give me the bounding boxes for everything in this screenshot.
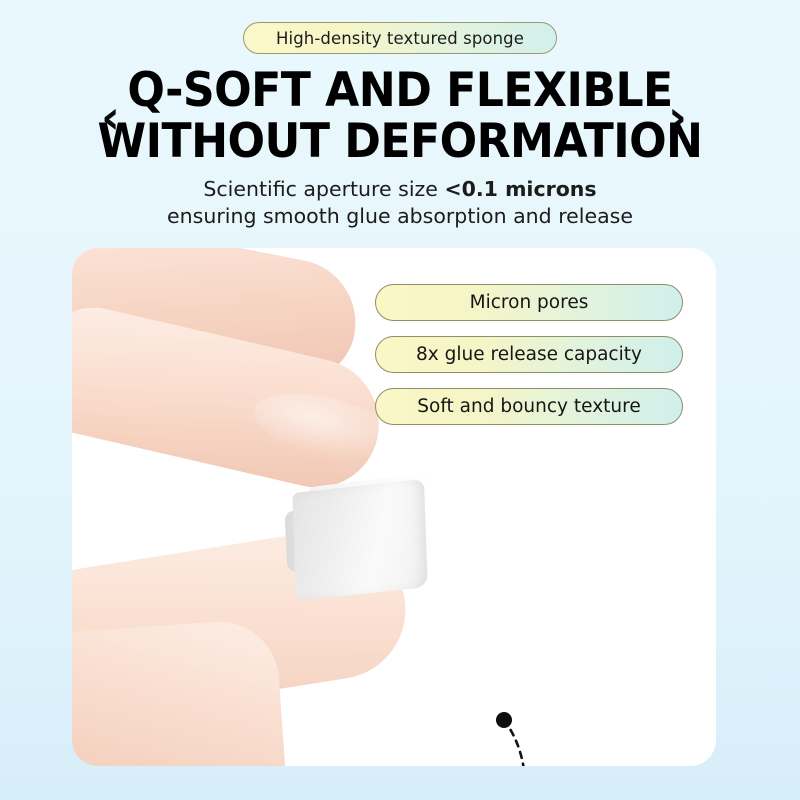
palm: [72, 618, 289, 766]
badge-high-density-sponge: High-density textured sponge: [243, 22, 557, 54]
subtitle: Scientific aperture size <0.1 microns en…: [0, 176, 800, 231]
feature-pill-label: Soft and bouncy texture: [417, 396, 640, 417]
arc-endpoint-top-dot: [496, 712, 512, 728]
headline-line-2: WITHOUT DEFORMATION: [24, 119, 776, 166]
white-sponge: [292, 479, 427, 601]
subtitle-line-1: Scientific aperture size <0.1 microns: [0, 176, 800, 203]
subtitle-emphasis: <0.1 microns: [444, 177, 596, 201]
feature-pill-label: Micron pores: [470, 292, 589, 313]
feature-pill-micron-pores: Micron pores: [375, 284, 683, 321]
feature-pill-glue-release: 8x glue release capacity: [375, 336, 683, 373]
subtitle-line-2: ensuring smooth glue absorption and rele…: [0, 203, 800, 230]
page-title: Q-SOFT AND FLEXIBLE WITHOUT DEFORMATION: [0, 68, 800, 165]
badge-label: High-density textured sponge: [276, 29, 524, 48]
feature-pill-label: 8x glue release capacity: [416, 344, 642, 365]
hand-holding-sponge-photo: [72, 248, 716, 766]
headline-line-1: Q-SOFT AND FLEXIBLE: [24, 68, 776, 115]
product-photo-card: [72, 248, 716, 766]
feature-pill-bouncy-texture: Soft and bouncy texture: [375, 388, 683, 425]
product-feature-graphic: High-density textured sponge ‹ › Q-SOFT …: [0, 0, 800, 800]
flex-arc-annotation: [480, 700, 550, 766]
subtitle-prefix: Scientific aperture size: [203, 177, 444, 201]
